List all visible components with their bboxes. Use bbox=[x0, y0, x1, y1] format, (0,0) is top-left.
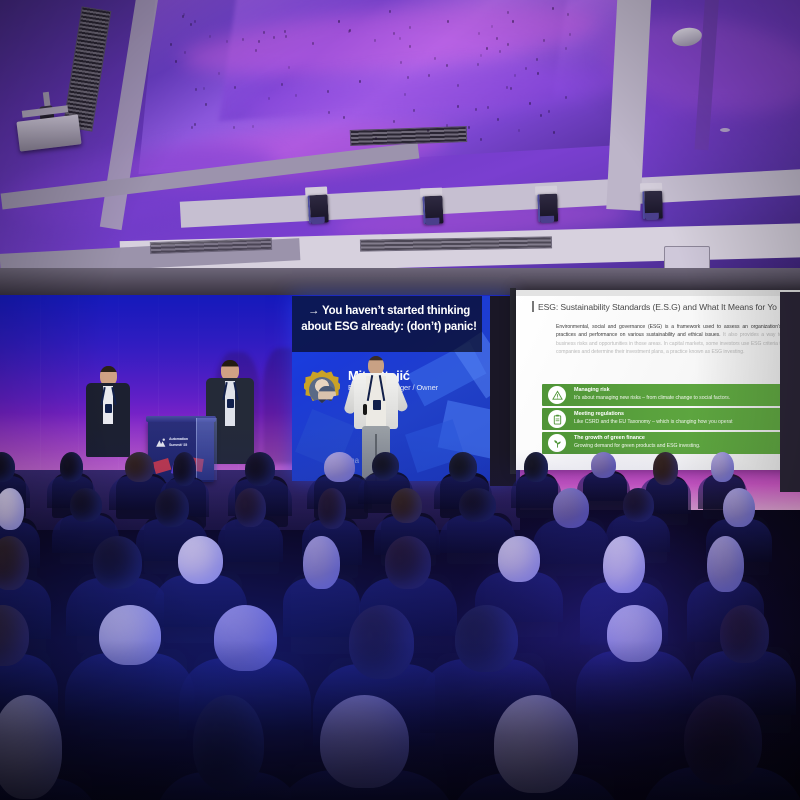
audience-member-head bbox=[193, 695, 264, 791]
audience-member-head bbox=[0, 695, 62, 799]
ceiling-speckle bbox=[514, 74, 516, 77]
stage-light-lens bbox=[645, 213, 659, 220]
ceiling-projector bbox=[16, 114, 81, 151]
slide-headline: → You haven’t started thinking about ESG… bbox=[300, 304, 478, 336]
audience-member-head bbox=[603, 536, 645, 593]
ceiling-speckle bbox=[295, 94, 297, 97]
ceiling-speckle bbox=[263, 31, 265, 34]
ceiling-speckle bbox=[194, 123, 196, 126]
audience-member-head bbox=[349, 605, 415, 679]
audience-member-head bbox=[214, 605, 277, 671]
arrow-right-icon: → bbox=[308, 305, 319, 317]
ceiling-speckle bbox=[457, 84, 459, 87]
slide-paragraph: Environmental, social and governance (ES… bbox=[556, 323, 800, 356]
ceiling-speckle bbox=[407, 76, 409, 79]
bullet-description: Like CSRD and the EU Taxonomy – which is… bbox=[574, 419, 732, 425]
audience-member-head bbox=[449, 452, 477, 482]
gear-frame-icon bbox=[304, 370, 340, 406]
ceiling-speckle bbox=[273, 36, 275, 39]
ceiling-speckle bbox=[536, 58, 538, 61]
ceiling-speckle bbox=[552, 7, 554, 10]
ceiling-speckle bbox=[268, 97, 270, 100]
ceiling-speckle bbox=[518, 129, 520, 132]
audience-member-head bbox=[459, 488, 496, 522]
audience-member-head bbox=[707, 536, 744, 592]
ceiling-speckle bbox=[480, 54, 482, 57]
audience-member-head bbox=[60, 452, 83, 482]
stage-light-lens bbox=[311, 217, 325, 225]
audience-member-head bbox=[93, 536, 142, 589]
audience-member-head bbox=[723, 488, 755, 527]
audience-member-head bbox=[0, 488, 24, 530]
ceiling-speckle bbox=[205, 103, 207, 106]
ceiling-speckle bbox=[234, 86, 236, 89]
audience-member-head bbox=[70, 488, 102, 522]
audience-member-head bbox=[318, 488, 346, 529]
audience-member-head bbox=[385, 536, 432, 589]
microphone-icon bbox=[363, 404, 367, 415]
ceiling-speckle bbox=[567, 13, 569, 16]
stage-light bbox=[535, 186, 558, 225]
slide-title-accent-bar bbox=[532, 301, 534, 312]
stage-light bbox=[640, 183, 663, 222]
panelist-badge bbox=[227, 399, 234, 408]
ceiling-speckle bbox=[281, 83, 283, 86]
ceiling-speckle bbox=[175, 60, 177, 63]
audience-member-head bbox=[711, 452, 735, 482]
bullet-title: Meeting regulations bbox=[574, 411, 624, 417]
audience-member-head bbox=[372, 452, 398, 479]
ceiling-speckle bbox=[209, 35, 211, 38]
audience-member-head bbox=[99, 605, 161, 665]
stage-light bbox=[420, 188, 444, 227]
ceiling-speckle bbox=[255, 49, 257, 52]
ceiling-speckle bbox=[510, 87, 512, 90]
bullet-title: Managing risk bbox=[574, 387, 610, 393]
stage-light-lens bbox=[540, 216, 554, 223]
audience-member-head bbox=[720, 605, 770, 663]
audience-member-head bbox=[173, 452, 196, 486]
ceiling-speckle bbox=[434, 57, 436, 60]
audience-member-head bbox=[125, 452, 154, 482]
ceiling-speckle bbox=[203, 87, 205, 90]
audience-member-head bbox=[623, 488, 654, 522]
audience-member-head bbox=[155, 488, 189, 527]
audience-member-head bbox=[591, 452, 616, 478]
ceiling-speckle bbox=[507, 11, 509, 14]
air-vent bbox=[63, 6, 112, 131]
audience-member-head bbox=[498, 536, 540, 582]
ceiling-speckle bbox=[540, 114, 542, 117]
audience-member-head bbox=[553, 488, 589, 528]
audience-member-head bbox=[324, 452, 355, 482]
ceiling-speckle bbox=[496, 37, 498, 40]
ceiling-speckle bbox=[226, 40, 228, 43]
ceiling-speckle bbox=[446, 124, 448, 127]
ceiling-speckle bbox=[191, 126, 193, 129]
avatar bbox=[309, 377, 335, 403]
stage-light bbox=[305, 186, 329, 225]
ceiling-speckle bbox=[400, 61, 402, 64]
audience-member-head bbox=[607, 605, 663, 662]
ceiling-speckle bbox=[328, 111, 330, 114]
ceiling-speckle bbox=[428, 74, 430, 77]
slide-top-border bbox=[516, 290, 800, 296]
ceiling-speckle bbox=[543, 39, 545, 42]
bullet-description: It’s about managing new risks – from cli… bbox=[574, 395, 730, 401]
ceiling-speckle bbox=[288, 66, 290, 69]
audience-member-head bbox=[245, 452, 275, 486]
slide-title: ESG: Sustainability Standards (E.S.G) an… bbox=[538, 302, 800, 312]
ceiling-speckle bbox=[183, 13, 185, 16]
ceiling-speckle bbox=[413, 109, 415, 112]
slide-headline-line1: You haven’t started thinking bbox=[322, 305, 470, 317]
audience-member-head bbox=[455, 605, 518, 672]
ceiling-speckle bbox=[457, 105, 459, 108]
ceiling-speckle bbox=[190, 23, 192, 26]
ceiling-speckle bbox=[548, 110, 550, 113]
audience-member-head bbox=[178, 536, 223, 584]
smoke-detector-icon bbox=[720, 128, 730, 132]
ceiling bbox=[0, 0, 800, 300]
slide-headline-line2: about ESG already: (don’t) panic! bbox=[301, 321, 477, 333]
bullet-row: Managing risk It’s about managing new ri… bbox=[542, 384, 800, 406]
audience-member-head bbox=[320, 695, 409, 788]
conference-photo: → You haven’t started thinking about ESG… bbox=[0, 0, 800, 800]
presenter-badge bbox=[373, 400, 381, 410]
ceiling-speckle bbox=[565, 96, 567, 99]
ceiling-speckle bbox=[350, 138, 352, 141]
ceiling-speckle bbox=[497, 118, 499, 121]
bullet-row: Meeting regulations Like CSRD and the EU… bbox=[542, 408, 800, 430]
audience-member-head bbox=[303, 536, 340, 589]
ceiling-speckle bbox=[404, 93, 406, 96]
ceiling-speckle bbox=[512, 20, 514, 23]
audience-member-head bbox=[494, 695, 578, 793]
ceiling-speckle bbox=[194, 20, 196, 23]
ceiling-speckle bbox=[348, 30, 350, 33]
ceiling-speckle bbox=[477, 63, 479, 66]
audience-member-head bbox=[653, 452, 677, 485]
audience-member-head bbox=[391, 488, 422, 523]
warning-triangle-icon bbox=[548, 386, 566, 404]
avatar-face bbox=[318, 386, 336, 406]
ceiling-speckle bbox=[427, 129, 429, 132]
audience-member-head bbox=[235, 488, 266, 527]
ceiling-speckle bbox=[218, 72, 220, 75]
audience-member-head bbox=[684, 695, 762, 785]
panelist-badge bbox=[105, 404, 112, 413]
ceiling-speckle bbox=[491, 25, 493, 28]
audience-member-head bbox=[524, 452, 548, 482]
audience bbox=[0, 440, 800, 800]
stage-light-lens bbox=[425, 218, 439, 226]
clipboard-icon bbox=[548, 410, 566, 428]
